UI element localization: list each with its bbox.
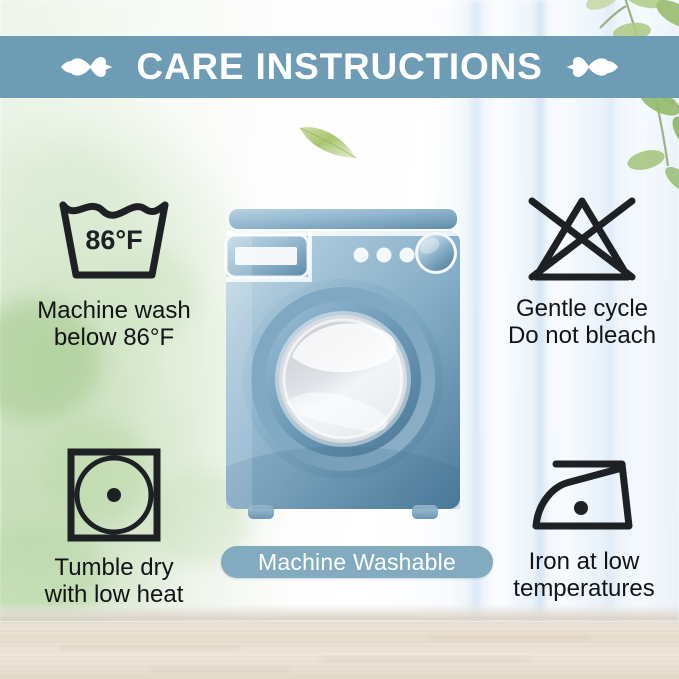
care-symbol-caption: Tumble dry with low heat	[45, 555, 184, 609]
washer-button-3	[400, 248, 415, 263]
washing-machine-illustration	[224, 207, 462, 537]
care-symbol-tumble-dry: Tumble dry with low heat	[14, 446, 214, 609]
tumble-dry-heat-dot	[107, 488, 121, 502]
page-title: CARE INSTRUCTIONS	[136, 46, 542, 88]
triangle-crossed-out-icon	[524, 193, 640, 290]
washer-top-lid	[229, 209, 457, 229]
wood-streak-2	[320, 658, 530, 661]
wash-tub-icon: 86°F	[54, 195, 174, 292]
fleur-de-lis-icon-left	[60, 47, 114, 87]
floating-leaf-icon	[296, 118, 360, 167]
care-instructions-graphic: CARE INSTRUCTIONS 86°F Machine wash belo…	[0, 0, 679, 679]
washer-button-2	[377, 248, 392, 263]
badge-label: Machine Washable	[258, 549, 456, 576]
wood-streak-3	[430, 636, 590, 639]
care-symbol-do-not-bleach: Gentle cycle Do not bleach	[484, 193, 679, 350]
washer-button-1	[354, 248, 369, 263]
wood-grain-texture	[0, 621, 679, 679]
care-symbol-caption: Machine wash below 86°F	[37, 298, 190, 352]
wood-streak-1	[60, 646, 240, 649]
wash-tub-temperature: 86°F	[85, 225, 142, 255]
iron-heat-dot	[574, 501, 588, 515]
care-symbol-machine-wash: 86°F Machine wash below 86°F	[14, 195, 214, 352]
tumble-dry-square-circle-icon	[65, 446, 163, 549]
wood-streak-4	[150, 668, 290, 671]
title-banner: CARE INSTRUCTIONS	[0, 36, 679, 98]
fleur-de-lis-icon-right	[565, 47, 619, 87]
iron-icon	[526, 446, 642, 543]
care-symbol-caption: Iron at low temperatures	[513, 549, 654, 603]
machine-washable-badge: Machine Washable	[221, 546, 493, 578]
care-symbol-iron: Iron at low temperatures	[486, 446, 679, 603]
care-symbol-caption: Gentle cycle Do not bleach	[508, 296, 656, 350]
